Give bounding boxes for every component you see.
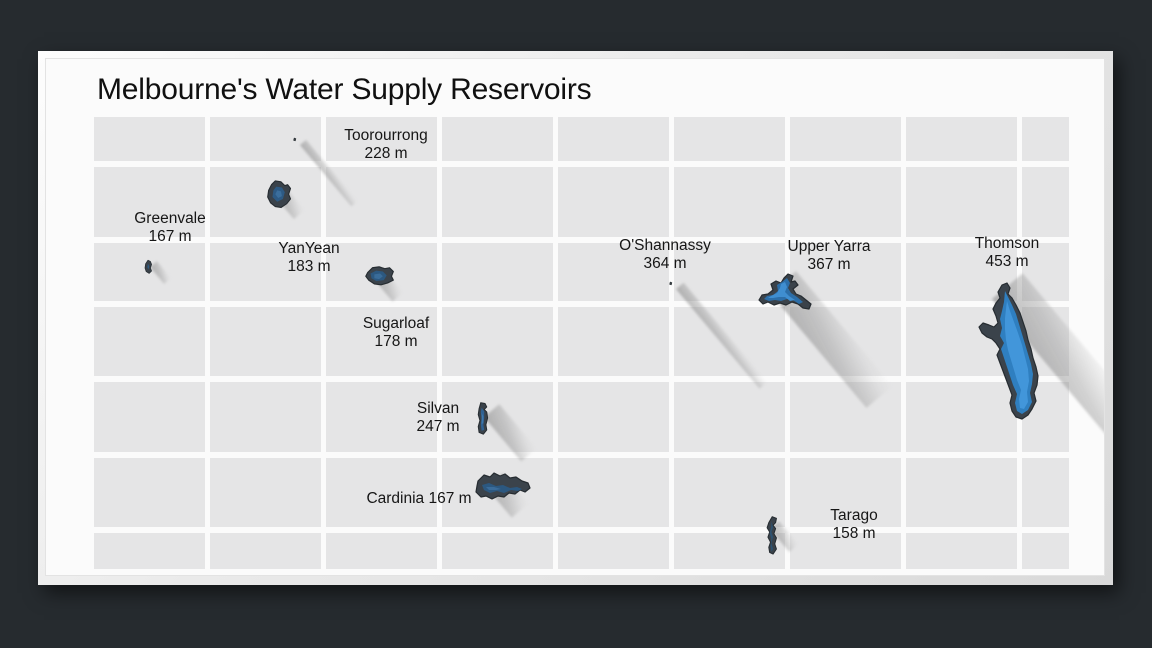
reservoir-shape-sugarloaf[interactable] xyxy=(362,263,396,290)
reservoir-shape-yanyean[interactable] xyxy=(262,179,294,211)
reservoir-shape-thomson[interactable] xyxy=(974,281,1044,431)
grid-row xyxy=(94,117,1069,161)
page-title: Melbourne's Water Supply Reservoirs xyxy=(97,73,591,107)
grid-row xyxy=(94,533,1069,569)
grid-row xyxy=(94,458,1069,527)
reservoir-shape-silvan[interactable] xyxy=(474,401,491,437)
reservoir-shape-tarago[interactable] xyxy=(762,515,784,558)
reservoir-shape-o-shannassy[interactable] xyxy=(668,281,674,287)
grid-row xyxy=(94,307,1069,376)
grid-row xyxy=(94,167,1069,237)
reservoir-shape-toorourrong[interactable] xyxy=(292,137,298,143)
map-canvas: Toorourrong 228 mGreenvale 167 mYanYean … xyxy=(94,117,1069,569)
slide-frame: Melbourne's Water Supply Reservoirs Toor… xyxy=(38,51,1113,585)
reservoir-shape-upper-yarra[interactable] xyxy=(754,272,816,344)
slide-surface: Melbourne's Water Supply Reservoirs Toor… xyxy=(46,59,1104,575)
reservoir-shape-greenvale[interactable] xyxy=(142,259,155,275)
grid-row xyxy=(94,243,1069,301)
reservoir-shape-cardinia[interactable] xyxy=(472,469,534,507)
grid-row xyxy=(94,382,1069,452)
screen-root: Melbourne's Water Supply Reservoirs Toor… xyxy=(0,0,1152,648)
